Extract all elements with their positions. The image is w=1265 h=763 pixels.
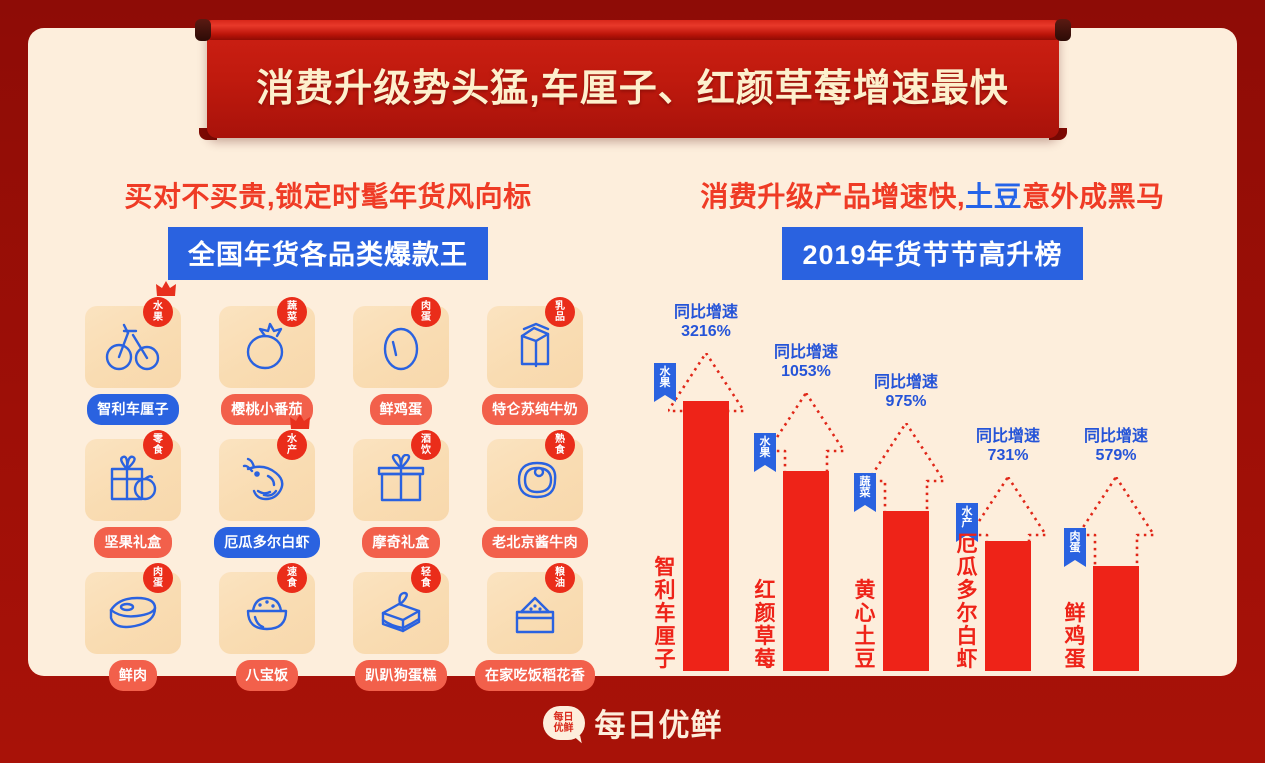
beef-slice-icon	[507, 454, 563, 506]
logo-wordmark: 每日优鲜	[595, 700, 723, 745]
badge-char: 粮	[555, 567, 566, 578]
badge-char: 菜	[287, 312, 298, 323]
category-badge-label: 零食	[153, 434, 164, 456]
chart-bar	[985, 541, 1031, 671]
ribbon-char: 果	[654, 378, 676, 389]
product-cell[interactable]: 轻食 趴趴狗蛋糕	[336, 572, 466, 691]
badge-char: 蔬	[287, 301, 298, 312]
product-cell[interactable]: 蔬菜 樱桃小番茄	[202, 306, 332, 425]
product-cell[interactable]: 肉蛋 鲜肉	[68, 572, 198, 691]
category-badge-label: 酒饮	[421, 434, 432, 456]
product-tile: 蔬菜	[219, 306, 315, 388]
product-tile: 粮油	[487, 572, 583, 654]
vlabel-char: 莓	[752, 648, 778, 671]
product-tile: 水果	[85, 306, 181, 388]
gift-nuts-icon	[105, 453, 161, 507]
rice-bag-icon	[508, 588, 562, 638]
chart-category-ribbon: 蔬菜	[854, 473, 876, 505]
chart-bar-column: 同比增速 975% 蔬菜 黄心土豆	[858, 281, 954, 671]
vlabel-char: 多	[954, 579, 980, 602]
category-badge-label: 熟食	[555, 434, 566, 456]
badge-char: 肉	[421, 301, 432, 312]
product-cell[interactable]: 肉蛋 鲜鸡蛋	[336, 306, 466, 425]
product-tile: 轻食	[353, 572, 449, 654]
badge-char: 酒	[421, 434, 432, 445]
vlabel-char: 土	[852, 625, 878, 648]
logo-mark-top: 每日	[554, 712, 574, 723]
left-section: 买对不买贵,锁定时髦年货风向标 全国年货各品类爆款王 水果 智利车厘子 蔬菜 樱…	[28, 175, 628, 675]
category-badge-label: 轻食	[421, 567, 432, 589]
product-name-pill: 坚果礼盒	[94, 527, 171, 558]
badge-char: 食	[153, 445, 164, 456]
badge-char: 产	[287, 445, 298, 456]
chart-category-tag: 水果	[654, 367, 676, 389]
left-subtitle: 全国年货各品类爆款王	[168, 227, 488, 280]
cherry-icon	[102, 321, 164, 373]
badge-char: 水	[153, 301, 164, 312]
category-badge-label: 速食	[287, 567, 298, 589]
product-cell[interactable]: 熟食 老北京酱牛肉	[470, 439, 600, 558]
chart-category-tag: 水产	[956, 507, 978, 529]
badge-char: 速	[287, 567, 298, 578]
right-headline-highlight: 土豆	[965, 181, 1022, 212]
vlabel-char: 智	[652, 556, 678, 579]
infographic-root: 消费升级势头猛,车厘子、红颜草莓增速最快 买对不买贵,锁定时髦年货风向标 全国年…	[0, 0, 1265, 763]
badge-char: 轻	[421, 567, 432, 578]
category-badge-label: 蔬菜	[287, 301, 298, 323]
product-tile: 零食	[85, 439, 181, 521]
growth-label: 同比增速 579%	[1084, 427, 1148, 465]
category-badge: 粮油	[545, 563, 575, 593]
growth-prefix: 同比增速	[774, 343, 838, 362]
scroll-rod	[202, 20, 1064, 40]
category-badge-label: 肉蛋	[421, 301, 432, 323]
chart-category-ribbon: 水果	[754, 433, 776, 465]
right-headline-part-a: 消费升级产品增速快,	[700, 181, 965, 212]
vlabel-char: 厄	[954, 533, 980, 556]
growth-label: 同比增速 3216%	[674, 303, 738, 341]
category-badge: 肉蛋	[411, 297, 441, 327]
badge-char: 饮	[421, 445, 432, 456]
ribbon-char: 产	[956, 518, 978, 529]
product-tile: 酒饮	[353, 439, 449, 521]
growth-prefix: 同比增速	[874, 373, 938, 392]
growth-value: 3216%	[674, 322, 738, 341]
product-tile: 肉蛋	[353, 306, 449, 388]
vlabel-char: 车	[652, 602, 678, 625]
logo-mark-bottom: 优鲜	[554, 723, 574, 734]
category-badge-label: 肉蛋	[153, 567, 164, 589]
category-badge: 酒饮	[411, 430, 441, 460]
category-badge-label: 乳品	[555, 301, 566, 323]
badge-char: 水	[287, 434, 298, 445]
vlabel-char: 厘	[652, 625, 678, 648]
category-badge: 水果	[143, 297, 173, 327]
meat-cut-icon	[103, 590, 163, 636]
badge-char: 零	[153, 434, 164, 445]
growth-prefix: 同比增速	[976, 427, 1040, 446]
chart-bar	[1093, 566, 1139, 671]
scroll-rod-cap-right	[1055, 19, 1071, 41]
cake-icon	[374, 587, 428, 639]
badge-char: 肉	[153, 567, 164, 578]
crown-icon	[289, 413, 311, 431]
product-name-pill: 鲜肉	[109, 660, 158, 691]
left-headline: 买对不买贵,锁定时髦年货风向标	[28, 175, 628, 215]
badge-char: 果	[153, 312, 164, 323]
product-name-pill: 趴趴狗蛋糕	[355, 660, 447, 691]
chart-bar-label: 红颜草莓	[752, 579, 778, 671]
growth-label: 同比增速 975%	[874, 373, 938, 411]
chart-bar-column: 同比增速 579% 肉蛋 鲜鸡蛋	[1068, 281, 1164, 671]
ribbon-char: 蛋	[1064, 543, 1086, 554]
brand-logo: 每日 优鲜 每日优鲜	[543, 700, 723, 745]
chart-bar-column: 同比增速 731% 水产 厄瓜多尔白虾	[960, 281, 1056, 671]
growth-prefix: 同比增速	[674, 303, 738, 322]
chart-bar-column: 同比增速 3216% 水果 智利车厘子	[658, 281, 754, 671]
product-grid: 水果 智利车厘子 蔬菜 樱桃小番茄 肉蛋 鲜鸡蛋 乳品 特仑苏纯牛奶 零食 坚果…	[68, 306, 588, 691]
vlabel-char: 红	[752, 579, 778, 602]
tomato-icon	[240, 321, 294, 373]
category-badge: 蔬菜	[277, 297, 307, 327]
chart-bar-label: 黄心土豆	[852, 579, 878, 671]
product-name-pill: 厄瓜多尔白虾	[214, 527, 320, 558]
growth-prefix: 同比增速	[1084, 427, 1148, 446]
product-name-pill: 在家吃饭稻花香	[475, 660, 595, 691]
gift-box-icon	[374, 454, 428, 506]
product-name-pill: 智利车厘子	[87, 394, 179, 425]
logo-mark-icon: 每日 优鲜	[543, 706, 585, 740]
shrimp-icon	[238, 455, 296, 505]
vlabel-char: 黄	[852, 579, 878, 602]
chart-category-ribbon: 肉蛋	[1064, 528, 1086, 560]
chart-category-tag: 蔬菜	[854, 477, 876, 499]
milk-carton-icon	[512, 319, 558, 375]
product-name-pill: 老北京酱牛肉	[482, 527, 588, 558]
growth-value: 975%	[874, 392, 938, 411]
vlabel-char: 豆	[852, 648, 878, 671]
chart-bar	[783, 471, 829, 671]
category-badge: 肉蛋	[143, 563, 173, 593]
vlabel-char: 子	[652, 648, 678, 671]
page-title: 消费升级势头猛,车厘子、红颜草莓增速最快	[256, 57, 1009, 112]
product-cell[interactable]: 酒饮 摩奇礼盒	[336, 439, 466, 558]
category-badge: 轻食	[411, 563, 441, 593]
growth-value: 731%	[976, 446, 1040, 465]
vlabel-char: 白	[954, 625, 980, 648]
right-headline-part-b: 意外成黑马	[1022, 181, 1165, 212]
product-tile: 水产	[219, 439, 315, 521]
vlabel-char: 瓜	[954, 556, 980, 579]
category-badge: 乳品	[545, 297, 575, 327]
category-badge-label: 水产	[287, 434, 298, 456]
badge-char: 食	[287, 578, 298, 589]
category-badge: 水产	[277, 430, 307, 460]
egg-icon	[377, 320, 425, 374]
badge-char: 乳	[555, 301, 566, 312]
product-name-pill: 鲜鸡蛋	[370, 394, 433, 425]
vlabel-char: 尔	[954, 602, 980, 625]
vlabel-char: 利	[652, 579, 678, 602]
scroll-rod-cap-left	[195, 19, 211, 41]
crown-icon	[155, 280, 177, 298]
category-badge: 零食	[143, 430, 173, 460]
chart-category-ribbon: 水果	[654, 363, 676, 395]
chart-category-tag: 水果	[754, 437, 776, 459]
product-cell[interactable]: 零食 坚果礼盒	[68, 439, 198, 558]
right-headline: 消费升级产品增速快,土豆意外成黑马	[628, 175, 1237, 215]
chart-bar	[883, 511, 929, 671]
ribbon-char: 菜	[854, 488, 876, 499]
product-name-pill: 八宝饭	[236, 660, 299, 691]
chart-category-ribbon: 水产	[956, 503, 978, 535]
vlabel-char: 虾	[954, 648, 980, 671]
product-cell[interactable]: 水果 智利车厘子	[68, 306, 198, 425]
product-tile: 熟食	[487, 439, 583, 521]
badge-char: 食	[555, 445, 566, 456]
vlabel-char: 鸡	[1062, 625, 1088, 648]
product-cell[interactable]: 乳品 特仑苏纯牛奶	[470, 306, 600, 425]
product-cell[interactable]: 粮油 在家吃饭稻花香	[470, 572, 600, 691]
right-section: 消费升级产品增速快,土豆意外成黑马 2019年货节节高升榜 同比增速 3216%…	[628, 175, 1237, 675]
growth-label: 同比增速 731%	[976, 427, 1040, 465]
badge-char: 油	[555, 578, 566, 589]
category-badge: 速食	[277, 563, 307, 593]
growth-label: 同比增速 1053%	[774, 343, 838, 381]
category-badge-label: 粮油	[555, 567, 566, 589]
growth-value: 579%	[1084, 446, 1148, 465]
chart-bar-label: 智利车厘子	[652, 556, 678, 671]
chart-bar-label: 厄瓜多尔白虾	[954, 533, 980, 671]
badge-char: 蛋	[153, 578, 164, 589]
product-tile: 乳品	[487, 306, 583, 388]
product-name-pill: 摩奇礼盒	[362, 527, 439, 558]
chart-category-tag: 肉蛋	[1064, 532, 1086, 554]
growth-bar-chart: 同比增速 3216% 水果 智利车厘子 同比增速 1053% 水果 红颜草莓	[628, 271, 1237, 671]
growth-value: 1053%	[774, 362, 838, 381]
vlabel-char: 心	[852, 602, 878, 625]
product-tile: 肉蛋	[85, 572, 181, 654]
vlabel-char: 颜	[752, 602, 778, 625]
chart-bar-label: 鲜鸡蛋	[1062, 602, 1088, 671]
title-banner: 消费升级势头猛,车厘子、红颜草莓增速最快	[207, 30, 1059, 138]
product-cell[interactable]: 水产 厄瓜多尔白虾	[202, 439, 332, 558]
badge-char: 品	[555, 312, 566, 323]
product-tile: 速食	[219, 572, 315, 654]
rice-bowl-icon	[240, 587, 294, 639]
vlabel-char: 蛋	[1062, 648, 1088, 671]
category-badge-label: 水果	[153, 301, 164, 323]
chart-bar-column: 同比增速 1053% 水果 红颜草莓	[758, 281, 854, 671]
category-badge: 熟食	[545, 430, 575, 460]
badge-char: 蛋	[421, 312, 432, 323]
vlabel-char: 草	[752, 625, 778, 648]
ribbon-char: 果	[754, 448, 776, 459]
badge-char: 熟	[555, 434, 566, 445]
product-cell[interactable]: 速食 八宝饭	[202, 572, 332, 691]
product-name-pill: 特仑苏纯牛奶	[482, 394, 588, 425]
vlabel-char: 鲜	[1062, 602, 1088, 625]
badge-char: 食	[421, 578, 432, 589]
chart-bar	[683, 401, 729, 671]
